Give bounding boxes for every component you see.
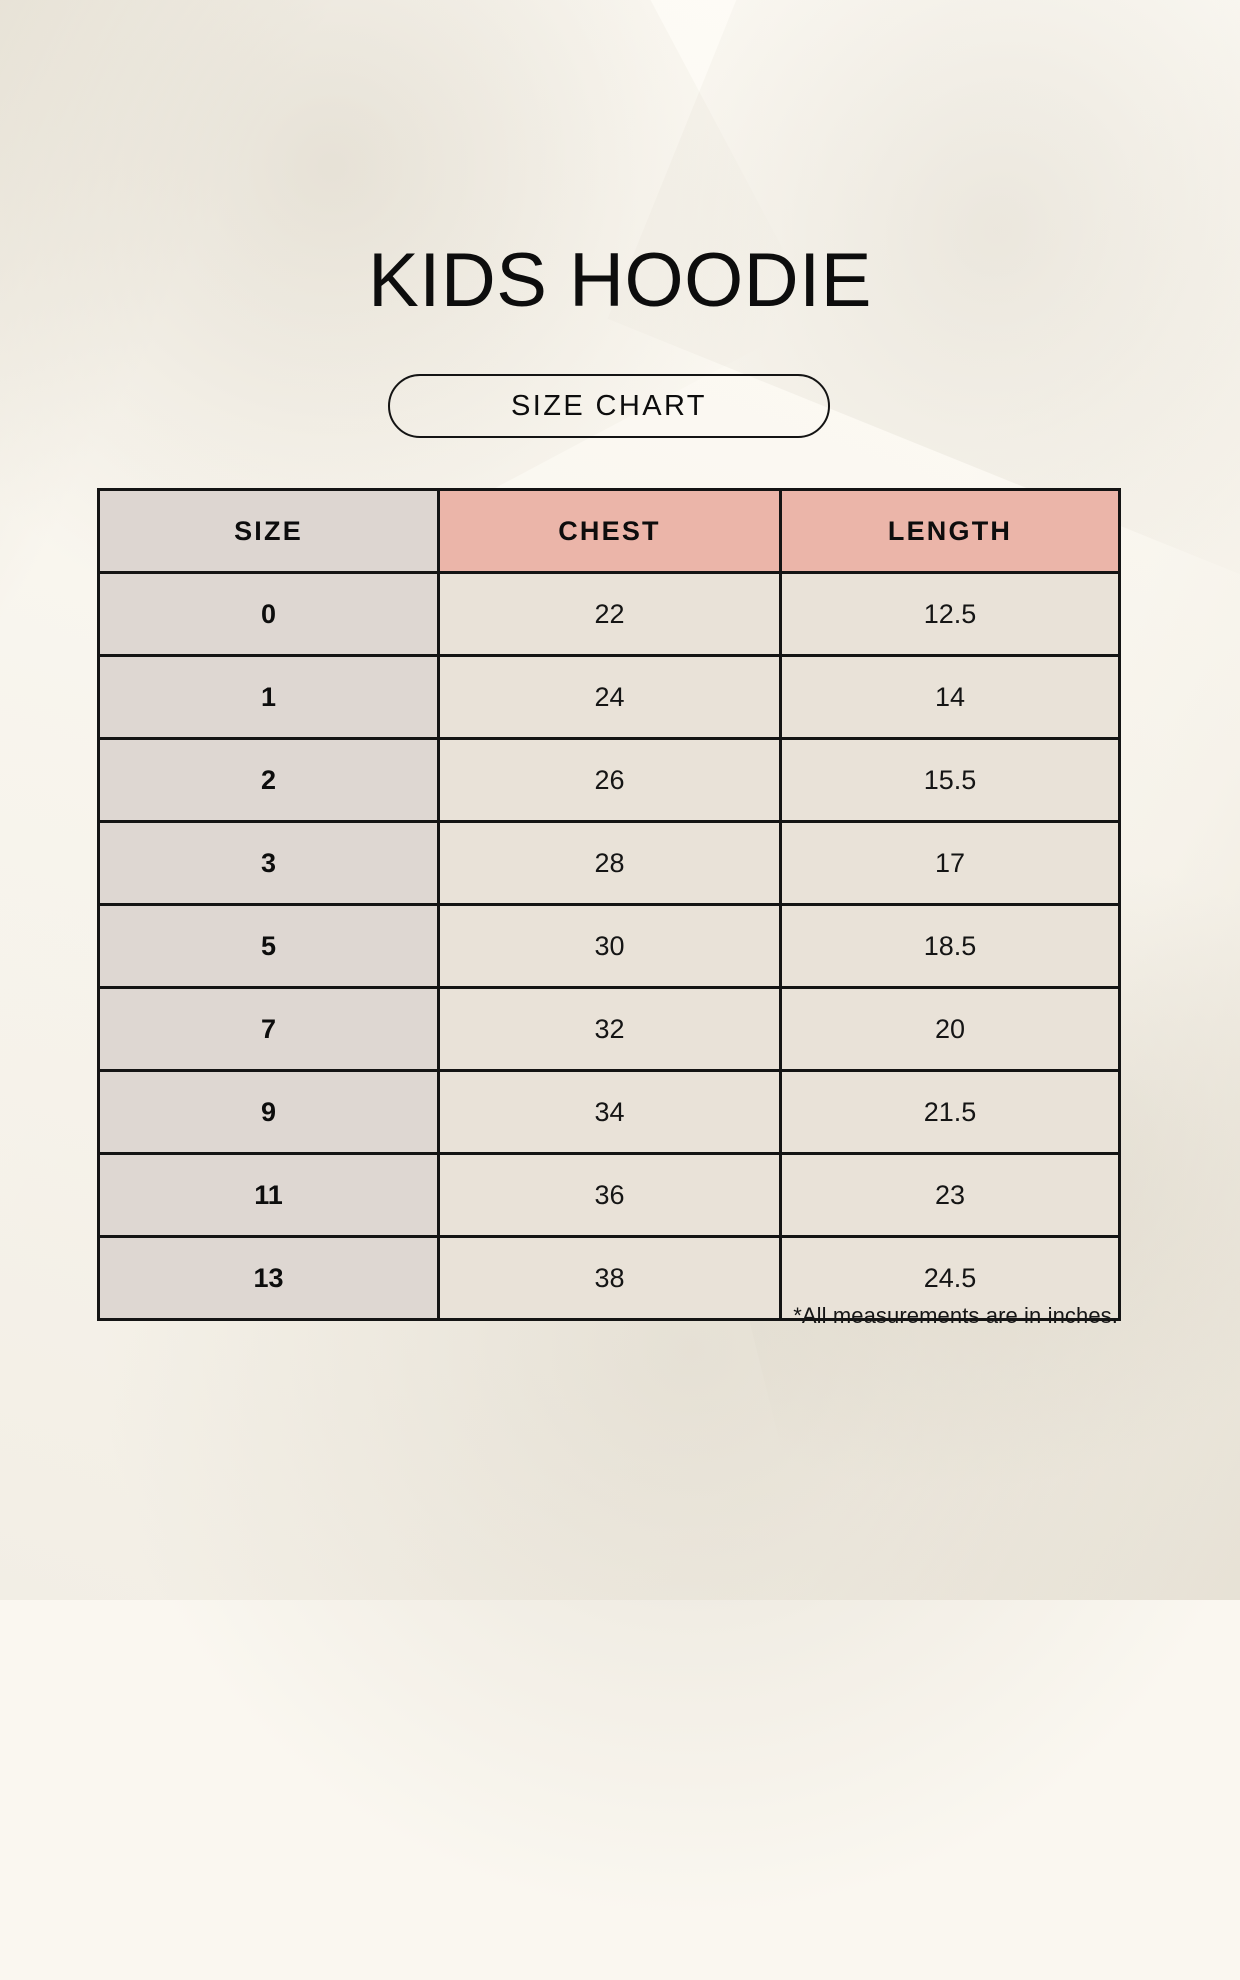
- column-header-chest: CHEST: [439, 490, 781, 573]
- column-header-length: LENGTH: [781, 490, 1120, 573]
- cell-length-value: 21.5: [924, 1097, 977, 1127]
- table-row: 9 34 21.5: [99, 1071, 1120, 1154]
- size-chart-content: KIDS HOODIE SIZE CHART SIZE CHEST: [0, 0, 1240, 1600]
- column-header-chest-label: CHEST: [558, 516, 661, 546]
- cell-length-value: 20: [935, 1014, 965, 1044]
- cell-chest: 36: [439, 1154, 781, 1237]
- cell-size: 9: [99, 1071, 439, 1154]
- size-chart-pill-label: SIZE CHART: [511, 390, 707, 423]
- cell-size-value: 13: [253, 1263, 283, 1293]
- cell-length-value: 15.5: [924, 765, 977, 795]
- cell-size-value: 5: [261, 931, 276, 961]
- table-row: 2 26 15.5: [99, 739, 1120, 822]
- cell-length: 20: [781, 988, 1120, 1071]
- measurement-units-note: *All measurements are in inches.: [97, 1303, 1118, 1329]
- table-row: 7 32 20: [99, 988, 1120, 1071]
- cell-size: 0: [99, 573, 439, 656]
- table-row: 5 30 18.5: [99, 905, 1120, 988]
- table-row: 3 28 17: [99, 822, 1120, 905]
- size-table: SIZE CHEST LENGTH 0 22: [97, 488, 1121, 1321]
- cell-size: 3: [99, 822, 439, 905]
- cell-chest-value: 36: [594, 1180, 624, 1210]
- cell-chest: 34: [439, 1071, 781, 1154]
- cell-size-value: 0: [261, 599, 276, 629]
- cell-chest: 28: [439, 822, 781, 905]
- page-title: KIDS HOODIE: [0, 243, 1240, 319]
- cell-chest-value: 32: [594, 1014, 624, 1044]
- cell-size-value: 7: [261, 1014, 276, 1044]
- cell-chest: 30: [439, 905, 781, 988]
- cell-chest-value: 34: [594, 1097, 624, 1127]
- table-header-row: SIZE CHEST LENGTH: [99, 490, 1120, 573]
- cell-length-value: 12.5: [924, 599, 977, 629]
- cell-size: 1: [99, 656, 439, 739]
- cell-size: 11: [99, 1154, 439, 1237]
- cell-length-value: 24.5: [924, 1263, 977, 1293]
- cell-size-value: 3: [261, 848, 276, 878]
- cell-length: 14: [781, 656, 1120, 739]
- cell-chest: 26: [439, 739, 781, 822]
- cell-length: 23: [781, 1154, 1120, 1237]
- table-row: 11 36 23: [99, 1154, 1120, 1237]
- cell-length-value: 23: [935, 1180, 965, 1210]
- cell-size-value: 2: [261, 765, 276, 795]
- cell-size: 5: [99, 905, 439, 988]
- cell-length-value: 14: [935, 682, 965, 712]
- cell-length: 17: [781, 822, 1120, 905]
- column-header-length-label: LENGTH: [888, 516, 1012, 546]
- cell-length: 21.5: [781, 1071, 1120, 1154]
- cell-chest: 24: [439, 656, 781, 739]
- cell-chest-value: 22: [594, 599, 624, 629]
- cell-length: 15.5: [781, 739, 1120, 822]
- cell-length-value: 17: [935, 848, 965, 878]
- cell-chest-value: 38: [594, 1263, 624, 1293]
- cell-chest: 22: [439, 573, 781, 656]
- cell-size-value: 1: [261, 682, 276, 712]
- size-chart-pill: SIZE CHART: [388, 374, 830, 438]
- cell-length: 12.5: [781, 573, 1120, 656]
- cell-chest-value: 28: [594, 848, 624, 878]
- cell-size-value: 11: [254, 1180, 283, 1210]
- table-row: 0 22 12.5: [99, 573, 1120, 656]
- cell-size: 2: [99, 739, 439, 822]
- cell-chest-value: 30: [594, 931, 624, 961]
- cell-length-value: 18.5: [924, 931, 977, 961]
- column-header-size-label: SIZE: [234, 516, 303, 546]
- column-header-size: SIZE: [99, 490, 439, 573]
- table-row: 1 24 14: [99, 656, 1120, 739]
- size-table-container: SIZE CHEST LENGTH 0 22: [97, 488, 1118, 1321]
- cell-chest-value: 26: [594, 765, 624, 795]
- cell-length: 18.5: [781, 905, 1120, 988]
- cell-chest-value: 24: [594, 682, 624, 712]
- cell-size-value: 9: [261, 1097, 276, 1127]
- cell-chest: 32: [439, 988, 781, 1071]
- cell-size: 7: [99, 988, 439, 1071]
